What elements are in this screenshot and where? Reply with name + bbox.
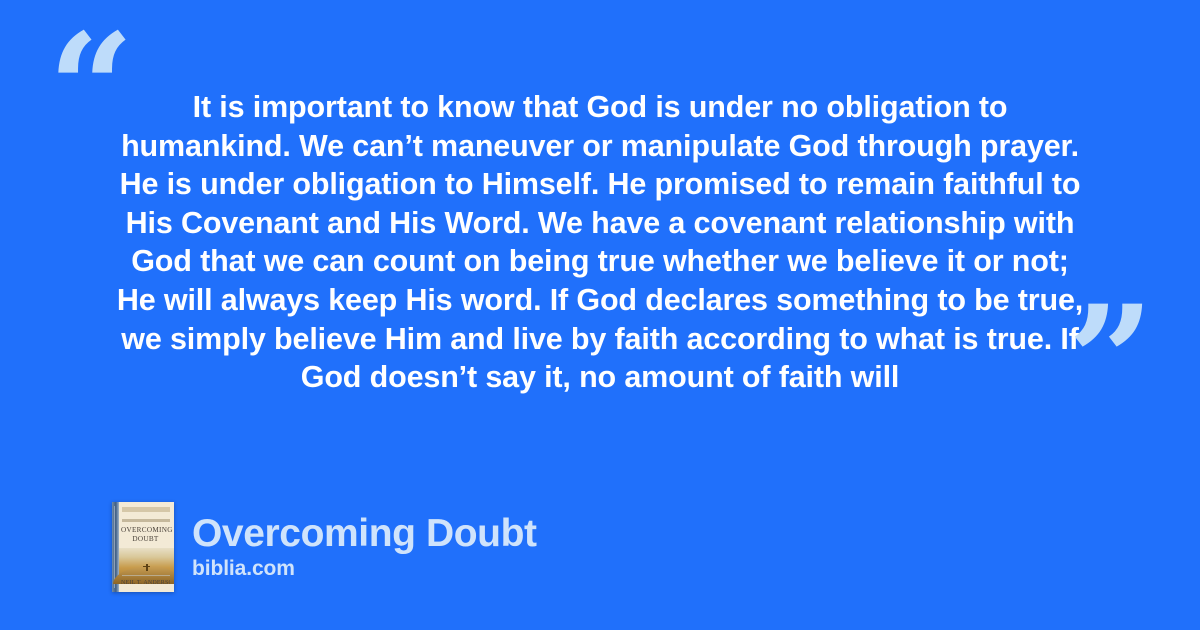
book-cover-title: Overcoming Doubt	[121, 526, 170, 543]
book-cover-figure	[146, 564, 148, 571]
book-cover-thumbnail: Overcoming Doubt Neil T. Anderson	[112, 502, 174, 592]
book-cover-series-band	[122, 507, 170, 512]
book-title: Overcoming Doubt	[192, 512, 537, 556]
quote-text: It is important to know that God is unde…	[112, 88, 1088, 397]
site-url[interactable]: biblia.com	[192, 556, 537, 582]
book-cover-author: Neil T. Anderson	[121, 580, 170, 586]
book-cover-rule	[122, 575, 170, 576]
close-quote-icon: ”	[1068, 286, 1154, 436]
footer: Overcoming Doubt Neil T. Anderson Overco…	[112, 502, 537, 592]
book-cover-eyebrow-rule	[122, 519, 170, 522]
quote-card: “ It is important to know that God is un…	[0, 0, 1200, 630]
quote-block: It is important to know that God is unde…	[112, 88, 1088, 397]
footer-text: Overcoming Doubt biblia.com	[192, 512, 537, 582]
